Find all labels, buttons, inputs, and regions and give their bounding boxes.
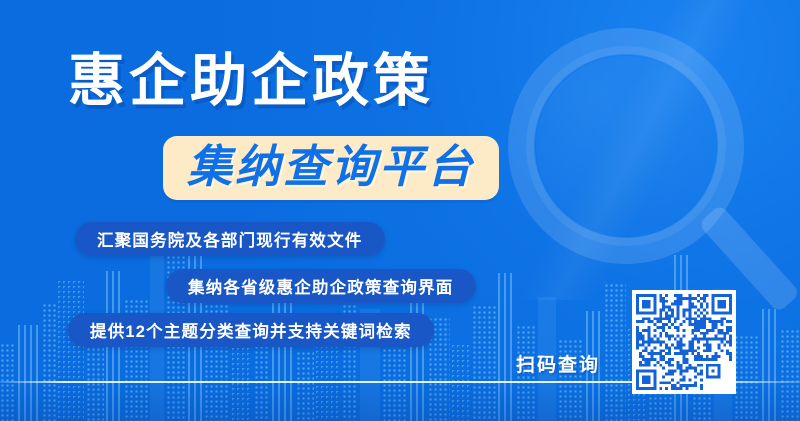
feature-pill-1: 汇聚国务院及各部门现行有效文件 <box>75 222 385 256</box>
qr-code[interactable] <box>632 290 736 394</box>
promotional-banner: 惠企助企政策 集纳查询平台 汇聚国务院及各部门现行有效文件 集纳各省级惠企助企政… <box>0 0 800 421</box>
feature-pill-2-label: 集纳各省级惠企助企政策查询界面 <box>188 274 454 298</box>
scan-to-query-label: 扫码查询 <box>516 350 600 377</box>
banner-subtitle-box: 集纳查询平台 <box>163 136 499 200</box>
feature-pill-1-label: 汇聚国务院及各部门现行有效文件 <box>97 227 363 251</box>
banner-title: 惠企助企政策 <box>68 50 434 112</box>
feature-pill-2: 集纳各省级惠企助企政策查询界面 <box>166 269 476 303</box>
qr-code-image <box>636 294 732 390</box>
banner-subtitle: 集纳查询平台 <box>187 143 475 191</box>
feature-pill-3-label: 提供12个主题分类查询并支持关键词检索 <box>90 318 412 342</box>
feature-pill-3: 提供12个主题分类查询并支持关键词检索 <box>68 313 434 347</box>
